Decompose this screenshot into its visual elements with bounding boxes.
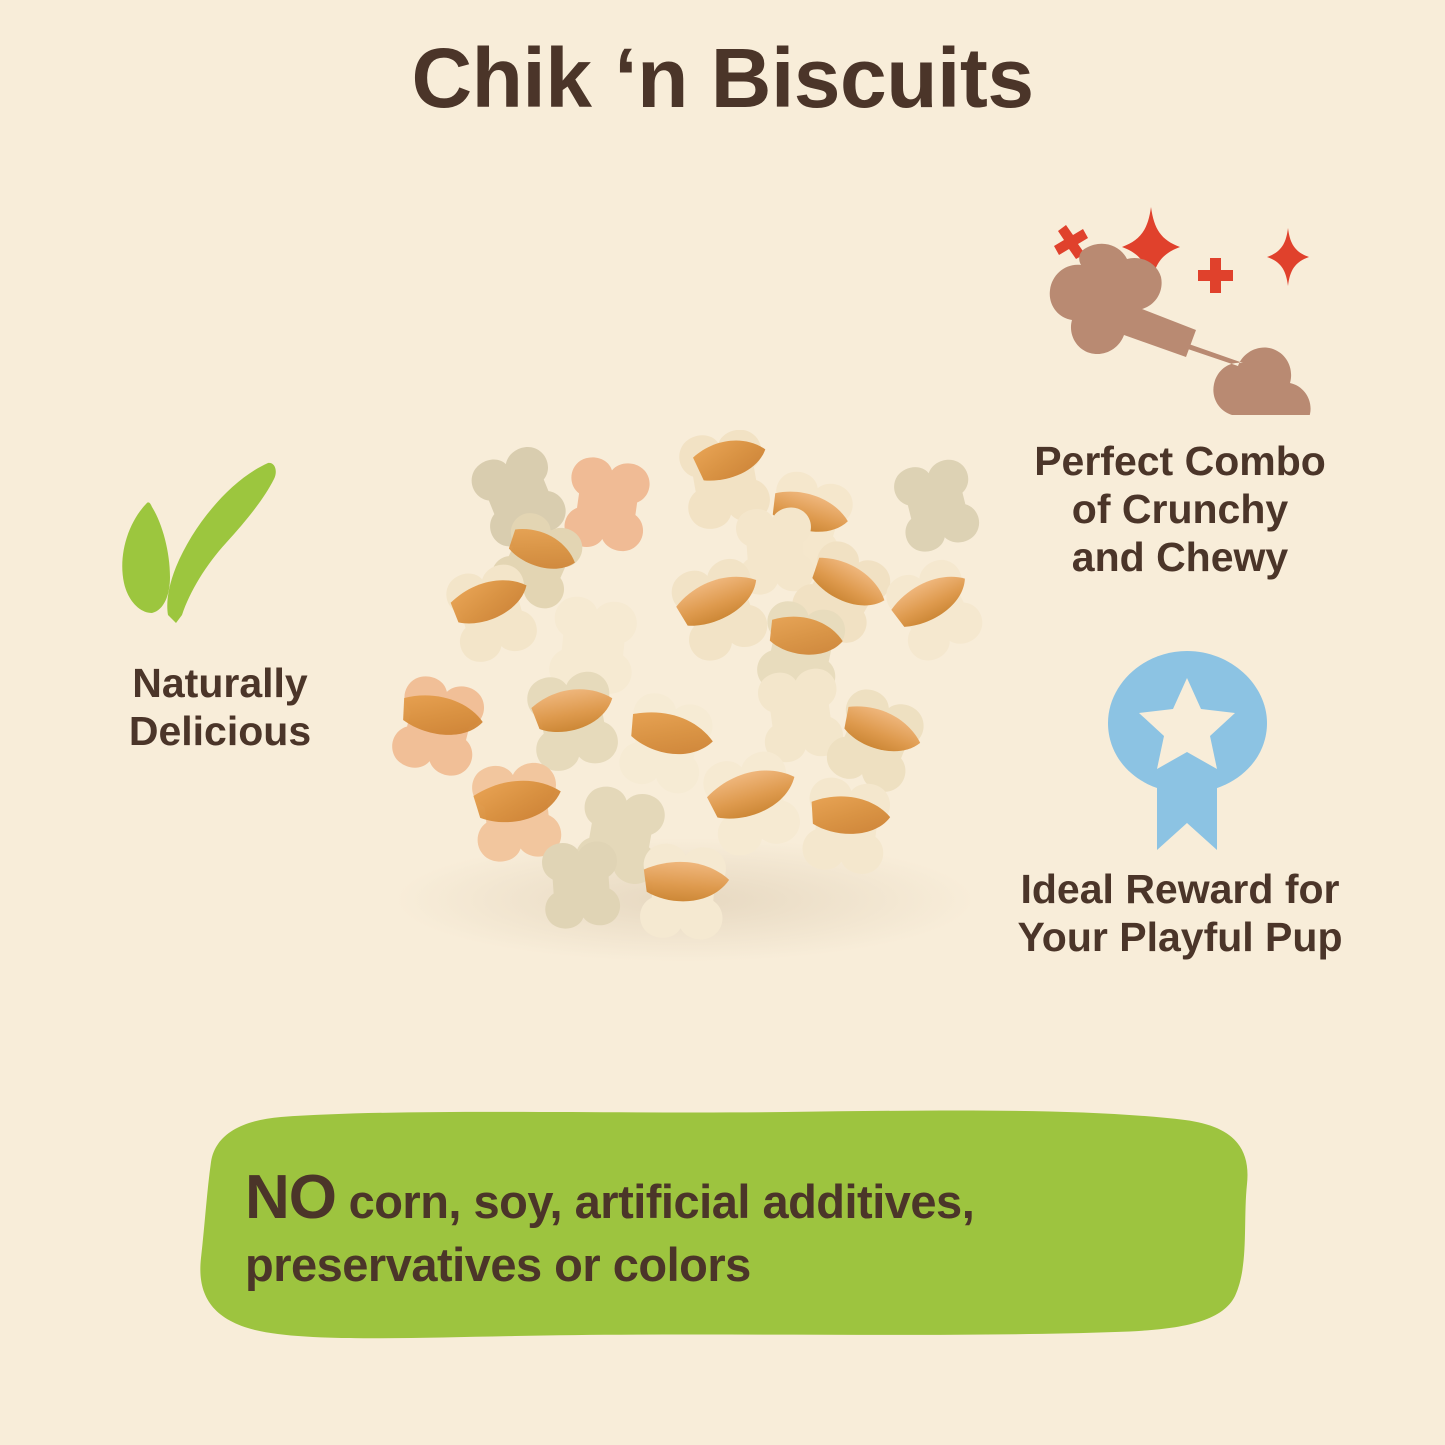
banner-line-2: preservatives or colors: [245, 1236, 1235, 1293]
award-ribbon-icon: [1095, 645, 1280, 855]
leaf-icon: [110, 455, 330, 645]
no-additives-banner: NO corn, soy, artificial additives, pres…: [185, 1098, 1260, 1348]
banner-line-1: corn, soy, artificial additives,: [349, 1175, 975, 1228]
bone-icon: [1020, 195, 1350, 415]
bone-shape: [1050, 244, 1311, 415]
banner-text: NO corn, soy, artificial additives, pres…: [245, 1160, 1235, 1293]
product-infographic: Chik ‘n Biscuits Naturally Delicious: [0, 0, 1445, 1445]
banner-emphasis: NO: [245, 1163, 336, 1232]
product-photo: [335, 430, 1035, 990]
page-title: Chik ‘n Biscuits: [0, 34, 1445, 122]
